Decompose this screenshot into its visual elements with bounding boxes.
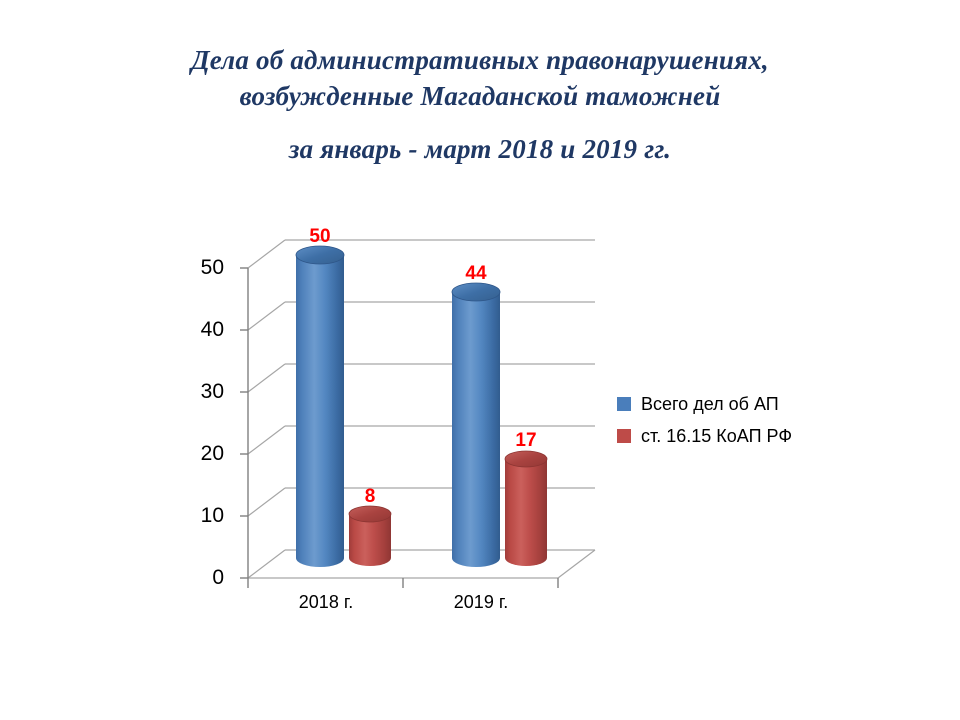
chart-legend: Всего дел об АП ст. 16.15 КоАП РФ [617, 388, 792, 452]
legend-swatch-article-icon [617, 429, 631, 443]
legend-label-total: Всего дел об АП [641, 394, 779, 415]
data-label-2018-art: 8 [340, 486, 400, 508]
legend-label-article: ст. 16.15 КоАП РФ [641, 426, 792, 447]
legend-item-total[interactable]: Всего дел об АП [617, 388, 792, 420]
bar-2018-total[interactable] [296, 246, 344, 567]
bar-2019-art[interactable] [505, 451, 547, 566]
chart-plot-area: 0 10 20 30 40 50 2018 г. 2019 г. 50 8 44… [0, 0, 960, 720]
legend-item-article[interactable]: ст. 16.15 КоАП РФ [617, 420, 792, 452]
y-tick-10: 10 [178, 504, 224, 528]
y-tick-20: 20 [178, 442, 224, 466]
x-tick-2018: 2018 г. [256, 592, 396, 613]
data-label-2019-art: 17 [496, 430, 556, 452]
x-axis [248, 578, 558, 588]
data-label-2018-total: 50 [290, 226, 350, 248]
bar-2019-total[interactable] [452, 283, 500, 567]
y-tick-0: 0 [178, 566, 224, 590]
y-tick-30: 30 [178, 380, 224, 404]
legend-swatch-total-icon [617, 397, 631, 411]
y-tick-50: 50 [178, 256, 224, 280]
y-tick-40: 40 [178, 318, 224, 342]
data-label-2019-total: 44 [446, 263, 506, 285]
y-axis [240, 268, 248, 578]
bar-2018-art[interactable] [349, 506, 391, 566]
x-tick-2019: 2019 г. [411, 592, 551, 613]
